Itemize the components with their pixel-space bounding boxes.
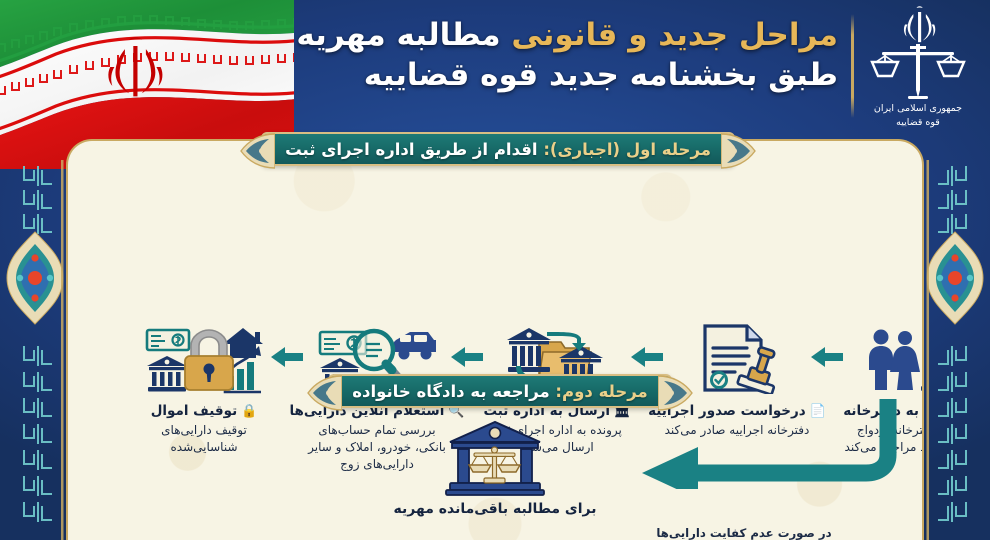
stage1-banner-pill: مرحله اول (اجباری): اقدام از طریق اداره … <box>261 132 735 166</box>
title-part-white: مطالبه مهریه <box>296 17 500 53</box>
arrow-right-icon-2 <box>630 323 664 367</box>
emblem-text-top: جمهوری اسلامی ایران <box>874 103 962 114</box>
arrow-right-icon-4 <box>270 323 304 367</box>
ornamental-border-right <box>924 160 986 540</box>
stage2-banner-highlight: مرحله دوم: <box>555 382 647 401</box>
stage2-banner: مرحله دوم: مراجعه به دادگاه خانواده <box>290 373 710 409</box>
content-panel: 📋 مراجعه به دفترخانه زوجه به دفترخانه از… <box>66 139 924 540</box>
emblem-text-bottom: قوه قضاییه <box>896 117 940 128</box>
courthouse-scales-icon <box>440 420 550 496</box>
banner-ornament-right-1 <box>721 130 763 172</box>
judiciary-emblem: جمهوری اسلامی ایران قوه قضاییه <box>858 6 978 131</box>
stage2-note: در صورت عدم کفایت دارایی‌ها برای پرداخت … <box>654 525 834 540</box>
asset-seizure-lock-icon <box>143 323 265 395</box>
stage1-banner-rest: اقدام از طریق اداره اجرای ثبت <box>285 140 543 159</box>
step-5-title-text: توقیف اموال <box>151 403 237 419</box>
stage2-banner-text: مرحله دوم: مراجعه به دادگاه خانواده <box>352 382 647 401</box>
banner-ornament-left-2 <box>300 372 342 414</box>
couple-notary-office-icon <box>861 323 924 395</box>
header-divider <box>851 14 854 118</box>
page-title: مراحل جدید و قانونی مطالبه مهریه طبق بخش… <box>278 16 838 95</box>
court-caption: برای مطالبه باقی‌مانده مهریه <box>394 501 597 517</box>
ornamental-border-left <box>4 160 66 540</box>
step-5-title: 🔒 توقیف اموال <box>151 403 258 419</box>
stage2-banner-rest: مراجعه به دادگاه خانواده <box>352 382 555 401</box>
stage2-note-line1: در صورت عدم کفایت دارایی‌ها <box>654 525 834 540</box>
stage2-banner-pill: مرحله دوم: مراجعه به دادگاه خانواده <box>328 374 671 408</box>
title-part-gold: مراحل جدید و قانونی <box>511 17 838 53</box>
arrow-right-icon-1 <box>810 323 844 367</box>
stage1-banner-text: مرحله اول (اجباری): اقدام از طریق اداره … <box>285 140 711 159</box>
stage2-court-block: برای مطالبه باقی‌مانده مهریه <box>68 420 922 517</box>
arrow-right-icon-3 <box>450 323 484 367</box>
stage1-banner-highlight: مرحله اول (اجباری): <box>543 140 711 159</box>
banner-ornament-left-1 <box>233 130 275 172</box>
banner-ornament-right-2 <box>658 372 700 414</box>
title-line-1: مراحل جدید و قانونی مطالبه مهریه <box>278 16 838 56</box>
stage1-banner: مرحله اول (اجباری): اقدام از طریق اداره … <box>208 131 788 167</box>
infographic-root: جمهوری اسلامی ایران قوه قضاییه مراحل جدی… <box>0 0 990 540</box>
title-line-2: طبق بخشنامه جدید قوه قضاییه <box>278 56 838 96</box>
lock-icon: 🔒 <box>241 404 257 419</box>
